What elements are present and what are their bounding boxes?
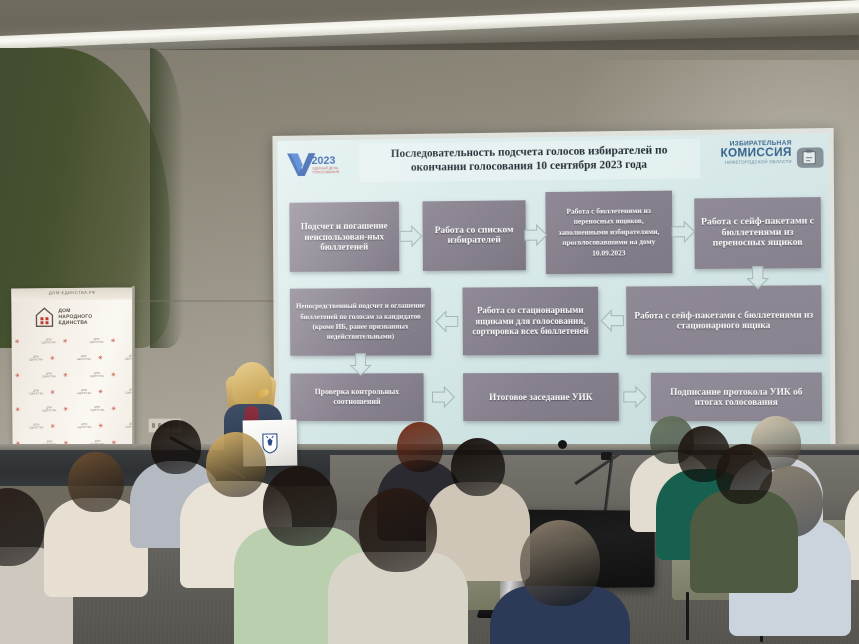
banner-ornament-icon: ✳ xyxy=(50,355,55,362)
audience-person-head xyxy=(716,444,772,504)
flow-arrow-connector-1 xyxy=(744,264,771,290)
flow-box-label: Работа со списком избирателей xyxy=(428,225,521,247)
banner-pattern-wordmark: ДОМЕДИНСТВА xyxy=(26,355,46,361)
flow-box-label: Проверка контрольных соотношений xyxy=(295,387,418,408)
flow-box-step-9: Итоговое заседание УИК xyxy=(463,373,619,421)
banner-pattern-wordmark: ДОМЕДИНСТВА xyxy=(39,372,59,378)
banner-ornament-icon: ✳ xyxy=(98,423,103,430)
flow-arrow-row1-3 xyxy=(670,219,696,245)
banner-ornament-icon: ✳ xyxy=(15,406,20,413)
banner-ornament-icon: ✳ xyxy=(15,338,20,345)
presentation-slide: 2023 ЕДИНЫЙ ДЕНЬ ГОЛОСОВАНИЯ Последовате… xyxy=(277,133,830,449)
flow-arrow-row2-1 xyxy=(434,308,460,334)
flow-box-label: Подписание протокола УИК об итогах голос… xyxy=(656,386,817,407)
banner-pattern-wordmark: ДОМЕДИНСТВА xyxy=(87,372,107,378)
banner-pattern-wordmark: ДОМЕДИНСТВА xyxy=(74,355,94,361)
audience-person-head xyxy=(451,438,505,496)
audience-person-head xyxy=(263,466,337,546)
flow-box-step-10: Подписание протокола УИК об итогах голос… xyxy=(651,372,822,421)
audience-person-head xyxy=(68,452,124,512)
flow-box-step-1: Подсчет и погашение неиспользован-ных бю… xyxy=(289,202,399,272)
flow-box-label: Работа с сейф-пакетами с бюллетенями из … xyxy=(631,309,816,331)
banner-pattern-wordmark: ДОМЕДИНСТВА xyxy=(26,423,46,429)
banner-pattern-wordmark: ДОМЕДИНСТВА xyxy=(39,338,59,344)
banner-logo-line-3: ЕДИНСТВА xyxy=(58,320,92,326)
audience-person-head xyxy=(359,488,437,572)
banner-url-text: ДОМ-ЕДИНСТВА.РФ xyxy=(11,289,133,295)
flow-box-label: Непосредственный подсчет и оглашение бюл… xyxy=(295,301,426,343)
ballot-box-icon xyxy=(794,141,825,172)
audience-person-head xyxy=(520,520,600,606)
flow-arrow-connector-2 xyxy=(348,352,374,378)
flow-arrow-row2-2 xyxy=(599,308,625,334)
flow-arrow-row3-2 xyxy=(622,384,648,410)
flow-box-label: Подсчет и погашение неиспользован-ных бю… xyxy=(294,221,394,253)
banner-pattern-wordmark: ДОМЕДИНСТВА xyxy=(26,389,46,395)
banner-ornament-icon: ✳ xyxy=(50,423,55,430)
flow-box-step-3: Работа с бюллетенями из переносных ящико… xyxy=(545,191,672,274)
flow-box-step-2: Работа со списком избирателей xyxy=(422,200,525,271)
flow-box-step-8: Проверка контрольных соотношений xyxy=(290,373,423,421)
speaker-hair xyxy=(232,362,272,410)
flow-arrow-row1-2 xyxy=(523,222,549,248)
banner-ornament-icon: ✳ xyxy=(63,338,68,345)
banner-ornament-icon: ✳ xyxy=(15,372,20,379)
banner-ornament-icon: ✳ xyxy=(63,406,68,413)
page-title: Последовательность подсчета голосов изби… xyxy=(365,143,694,176)
flow-box-label: Работа с сейф-пакетами с бюллетенями из … xyxy=(699,217,815,250)
banner-pattern-wordmark: ДОМЕДИНСТВА xyxy=(87,406,107,412)
slide-title-plate: Последовательность подсчета голосов изби… xyxy=(359,139,700,182)
banner-ornament-icon: ✳ xyxy=(111,338,116,345)
banner-pattern-wordmark: ДОМЕДИНСТВА xyxy=(87,338,107,344)
flow-box-step-4: Работа с сейф-пакетами с бюллетенями из … xyxy=(694,197,821,269)
house-icon xyxy=(33,306,55,328)
flow-box-label: Работа с бюллетенями из переносных ящико… xyxy=(550,206,667,259)
chair-leg xyxy=(686,592,689,640)
slide-header: 2023 ЕДИНЫЙ ДЕНЬ ГОЛОСОВАНИЯ Последовате… xyxy=(277,133,829,192)
banner-logo: ДОМ НАРОДНОГО ЕДИНСТВА xyxy=(33,306,92,329)
flow-box-label: Итоговое заседание УИК xyxy=(489,392,592,402)
flow-box-step-6: Работа со стационарными ящиками для голо… xyxy=(462,287,598,356)
banner-logo-text: ДОМ НАРОДНОГО ЕДИНСТВА xyxy=(58,308,92,326)
audience-person-body xyxy=(690,490,798,593)
banner-ornament-icon: ✳ xyxy=(50,389,55,396)
banner-pattern-wordmark: ДОМЕДИНСТВА xyxy=(39,406,59,412)
election-commission-logo: ИЗБИРАТЕЛЬНАЯ КОМИССИЯ НИЖЕГОРОДСКОЙ ОБЛ… xyxy=(694,139,825,177)
photograph-scene: ДОМ-ЕДИНСТВА.РФ ДОМ НАРОДНОГО ЕДИНСТВА ✳… xyxy=(0,0,859,644)
audience-person-head xyxy=(397,422,443,472)
audience-person-head xyxy=(206,432,266,497)
flow-box-step-5: Непосредственный подсчет и оглашение бюл… xyxy=(290,288,431,356)
banner-ornament-icon: ✳ xyxy=(111,406,116,413)
flow-arrow-row1-1 xyxy=(398,223,424,249)
edg-caption-2: ГОЛОСОВАНИЯ xyxy=(313,170,340,174)
flow-box-label: Работа со стационарными ящиками для голо… xyxy=(468,305,594,337)
svg-text:2023: 2023 xyxy=(311,155,335,167)
banner-pattern-wordmark: ДОМЕДИНСТВА xyxy=(74,389,94,395)
banner-ornament-icon: ✳ xyxy=(98,355,103,362)
banner-ornament-icon: ✳ xyxy=(98,389,103,396)
banner-ornament-icon: ✳ xyxy=(63,372,68,379)
edg-2023-logo: 2023 ЕДИНЫЙ ДЕНЬ ГОЛОСОВАНИЯ xyxy=(285,150,353,179)
flow-arrow-row3-1 xyxy=(430,384,456,410)
flow-box-step-7: Работа с сейф-пакетами с бюллетенями из … xyxy=(626,285,822,355)
banner-ornament-icon: ✳ xyxy=(111,372,116,379)
banner-pattern-wordmark: ДОМЕДИНСТВА xyxy=(74,423,94,429)
audience-person-head xyxy=(151,420,201,474)
projection-screen: 2023 ЕДИНЫЙ ДЕНЬ ГОЛОСОВАНИЯ Последовате… xyxy=(272,128,835,455)
boom-mic-capsule xyxy=(558,440,567,449)
